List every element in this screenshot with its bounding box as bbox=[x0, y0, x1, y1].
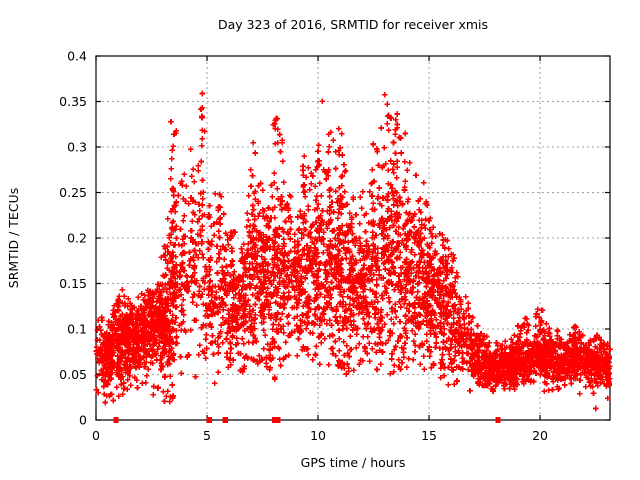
y-tick-label: 0.1 bbox=[67, 322, 87, 337]
x-axis-tick-labels: 05101520 bbox=[92, 428, 548, 443]
x-tick-label: 0 bbox=[92, 428, 100, 443]
data-points bbox=[94, 91, 613, 412]
x-tick-label: 20 bbox=[532, 428, 548, 443]
x-tick-label: 15 bbox=[421, 428, 437, 443]
x-axis-label: GPS time / hours bbox=[301, 455, 406, 470]
y-tick-label: 0.4 bbox=[67, 49, 87, 64]
y-tick-label: 0.05 bbox=[59, 367, 87, 382]
y-axis-tick-labels: 00.050.10.150.20.250.30.350.4 bbox=[59, 49, 87, 428]
y-tick-label: 0.3 bbox=[67, 140, 87, 155]
x-tick-label: 5 bbox=[203, 428, 211, 443]
chart-title: Day 323 of 2016, SRMTID for receiver xmi… bbox=[218, 17, 488, 32]
y-tick-label: 0.15 bbox=[59, 276, 87, 291]
x-tick-label: 10 bbox=[310, 428, 326, 443]
y-tick-label: 0.25 bbox=[59, 185, 87, 200]
gnuplot-figure: 00.050.10.150.20.250.30.350.4 05101520 D… bbox=[0, 0, 640, 480]
y-tick-label: 0.2 bbox=[67, 231, 87, 246]
scatter-plot-canvas: 00.050.10.150.20.250.30.350.4 05101520 D… bbox=[0, 0, 640, 480]
y-axis-label: SRMTID / TECUs bbox=[6, 188, 21, 288]
y-tick-label: 0 bbox=[79, 413, 87, 428]
y-tick-label: 0.35 bbox=[59, 94, 87, 109]
scatter-marker-path bbox=[94, 91, 613, 412]
